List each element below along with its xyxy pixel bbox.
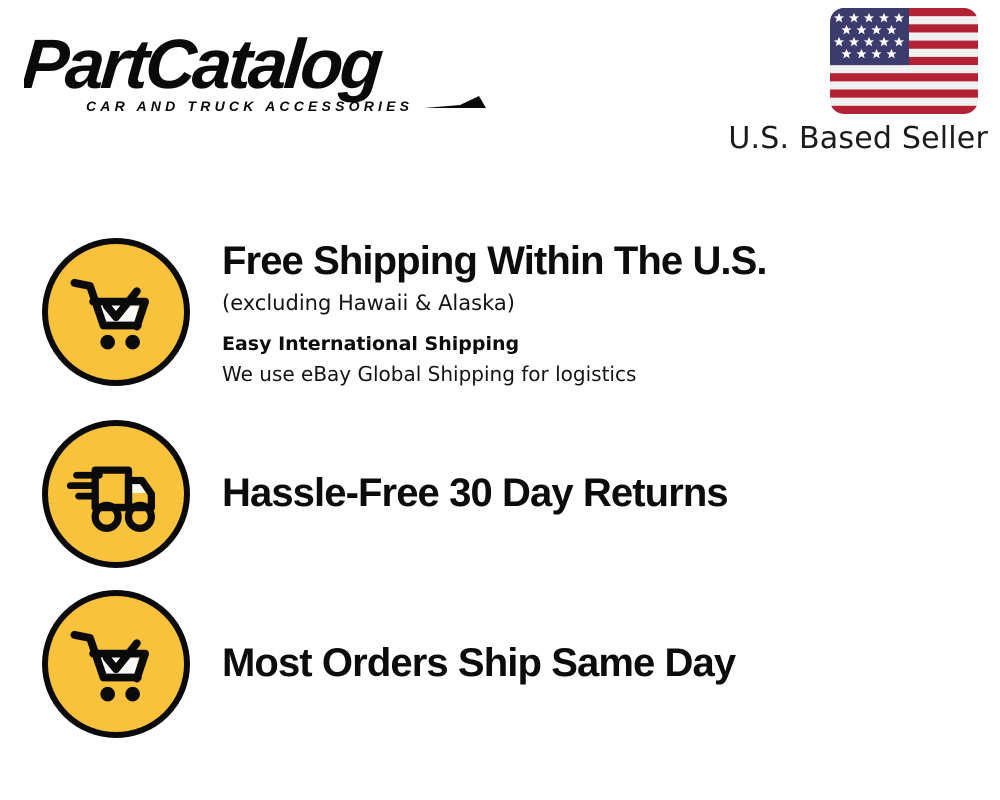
banner-header: PartCatalog CAR AND TRUCK ACCESSORIES Pa… <box>0 0 1000 170</box>
feature-row: Free Shipping Within The U.S. (excluding… <box>0 238 1000 387</box>
feature-subtext-light: We use eBay Global Shipping for logistic… <box>222 361 1000 387</box>
feature-text-block: Free Shipping Within The U.S. (excluding… <box>222 238 1000 387</box>
svg-text:CAR AND TRUCK ACCESSORIES: CAR AND TRUCK ACCESSORIES <box>86 98 413 114</box>
feature-headline: Free Shipping Within The U.S. <box>222 240 1000 283</box>
us-based-seller-badge: U.S. Based Seller <box>708 8 988 155</box>
feature-subtext-strong: Easy International Shipping <box>222 333 1000 357</box>
feature-row: Hassle-Free 30 Day Returns <box>0 420 1000 568</box>
delivery-truck-icon <box>42 420 190 568</box>
feature-subtext: (excluding Hawaii & Alaska) <box>222 290 1000 316</box>
feature-row: Most Orders Ship Same Day <box>0 590 1000 738</box>
us-flag-icon <box>830 8 978 114</box>
partcatalog-logo: PartCatalog CAR AND TRUCK ACCESSORIES Pa… <box>24 22 494 114</box>
svg-text:PartCatalog: PartCatalog <box>24 25 386 103</box>
shopping-cart-check-icon <box>42 590 190 738</box>
promotional-banner: PartCatalog CAR AND TRUCK ACCESSORIES Pa… <box>0 0 1000 800</box>
feature-headline: Most Orders Ship Same Day <box>222 642 1000 685</box>
feature-text-block: Most Orders Ship Same Day <box>222 590 1000 738</box>
us-based-seller-label: U.S. Based Seller <box>728 122 988 155</box>
shopping-cart-check-icon <box>42 238 190 386</box>
feature-headline: Hassle-Free 30 Day Returns <box>222 472 1000 515</box>
feature-text-block: Hassle-Free 30 Day Returns <box>222 420 1000 568</box>
